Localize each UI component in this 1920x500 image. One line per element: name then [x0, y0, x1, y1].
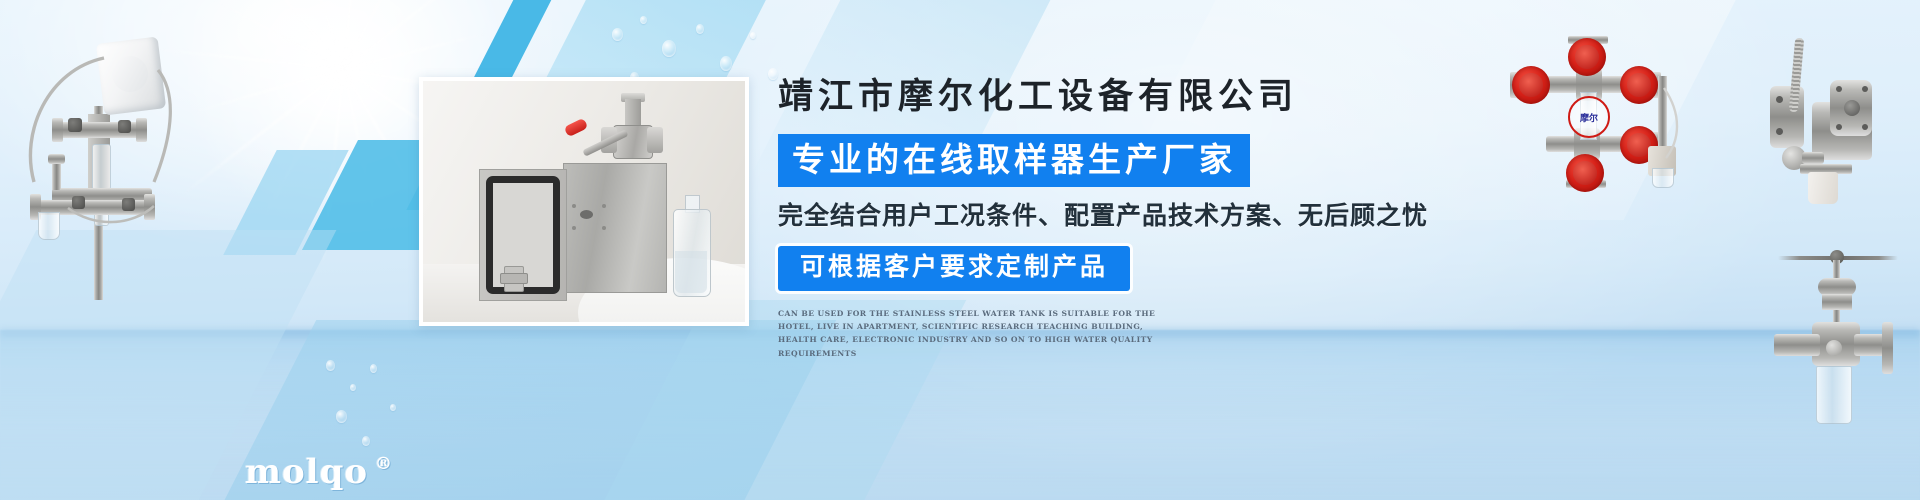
cabinet-door	[479, 169, 567, 301]
photo-content	[423, 81, 745, 322]
company-name: 靖江市摩尔化工设备有限公司	[778, 78, 1418, 117]
registered-mark-icon: ®	[375, 454, 393, 474]
brand-watermark: molqo ®	[245, 452, 393, 492]
valve-flange-right	[647, 127, 663, 153]
brand-name: molqo	[245, 452, 368, 492]
sampling-valve-assembly	[601, 99, 663, 175]
sample-bottle-liquid	[675, 251, 707, 293]
center-product-photo	[419, 77, 749, 326]
custom-product-badge[interactable]: 可根据客户要求定制产品	[778, 246, 1130, 291]
banner-text-block: 靖江市摩尔化工设备有限公司 专业的在线取样器生产厂家 完全结合用户工况条件、配置…	[778, 78, 1418, 360]
cabinet-port	[580, 210, 593, 219]
promo-banner: 摩尔 靖江市摩尔化工设备有限公司	[0, 0, 1920, 500]
headline-badge: 专业的在线取样器生产厂家	[778, 134, 1250, 187]
sampler-cabinet-body	[563, 163, 667, 293]
valve-stem	[625, 99, 641, 127]
english-caption: CAN BE USED FOR THE STAINLESS STEEL WATE…	[778, 307, 1178, 360]
sub-headline: 完全结合用户工况条件、配置产品技术方案、无后顾之忧	[778, 201, 1418, 232]
door-handle	[500, 273, 528, 284]
